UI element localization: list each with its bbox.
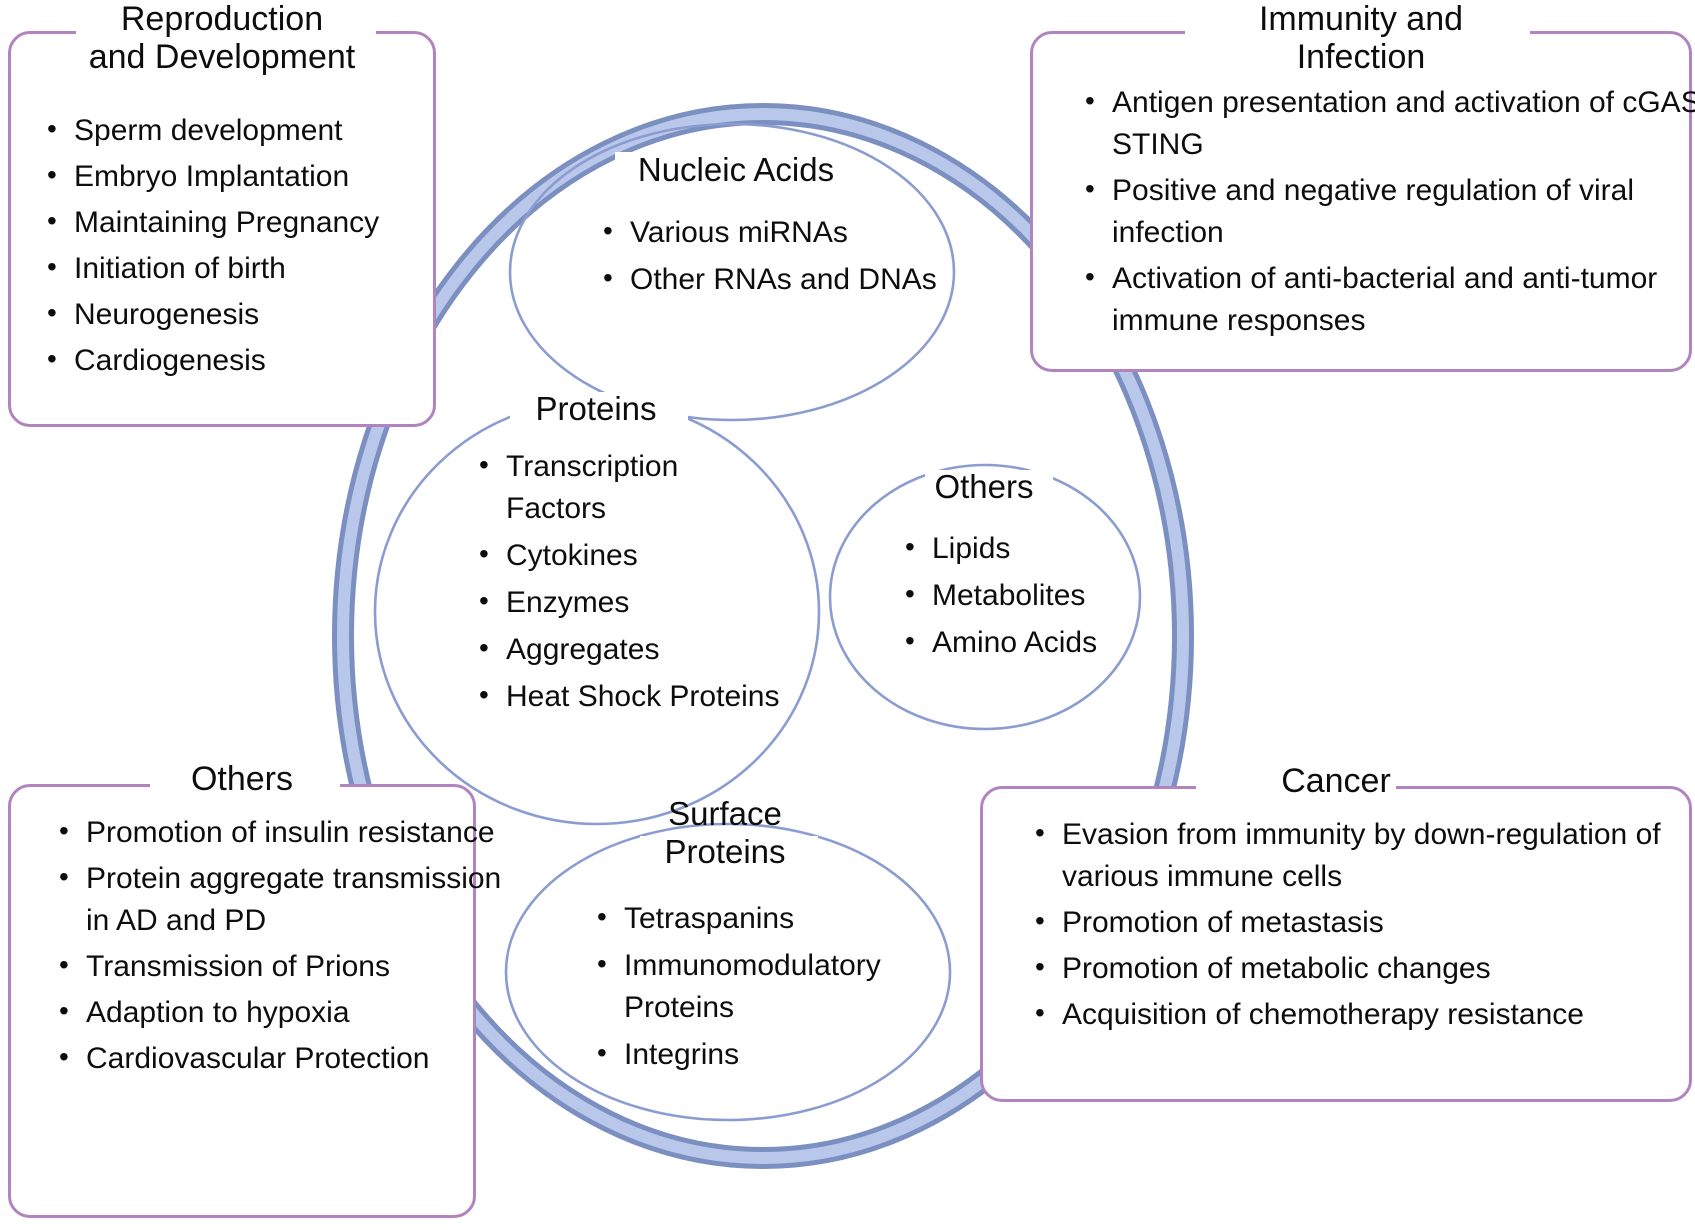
list-item: Activation of anti-bacterial and anti-tu… bbox=[1112, 258, 1695, 342]
cargo-list-others: Lipids Metabolites Amino Acids bbox=[898, 528, 1182, 669]
list-item: Various miRNAs bbox=[630, 212, 940, 254]
list-item: Integrins bbox=[624, 1034, 994, 1076]
cargo-title-proteins: Proteins bbox=[376, 390, 816, 428]
list-item: Positive and negative regulation of vira… bbox=[1112, 170, 1695, 254]
cargo-list-proteins: Transcription Factors Cytokines Enzymes … bbox=[472, 446, 786, 723]
panel-list-reproduction-and-development: Sperm development Embryo Implantation Ma… bbox=[38, 110, 464, 386]
list-item: Immunomodulatory Proteins bbox=[624, 945, 994, 1029]
list-item: Tetraspanins bbox=[624, 898, 994, 940]
list-item: Antigen presentation and activation of c… bbox=[1112, 82, 1695, 166]
list-item: Lipids bbox=[932, 528, 1182, 570]
list-item: Evasion from immunity by down-regulation… bbox=[1062, 814, 1695, 898]
panel-title-immunity-and-infection: Immunity and Infection bbox=[1030, 0, 1692, 76]
list-item: Promotion of metabolic changes bbox=[1062, 948, 1695, 990]
list-item: Initiation of birth bbox=[74, 248, 464, 290]
list-item: Enzymes bbox=[506, 582, 786, 624]
list-item: Protein aggregate transmission in AD and… bbox=[86, 858, 514, 942]
list-item: Adaption to hypoxia bbox=[86, 992, 514, 1034]
panel-title-reproduction-and-development: Reproduction and Development bbox=[8, 0, 436, 76]
panel-list-immunity-and-infection: Antigen presentation and activation of c… bbox=[1076, 82, 1695, 346]
list-item: Heat Shock Proteins bbox=[506, 676, 786, 718]
cargo-title-nucleic-acids: Nucleic Acids bbox=[516, 151, 956, 189]
list-item: Metabolites bbox=[932, 575, 1182, 617]
cargo-list-nucleic-acids: Various miRNAs Other RNAs and DNAs bbox=[596, 212, 940, 306]
list-item: Promotion of metastasis bbox=[1062, 902, 1695, 944]
cargo-list-surface-proteins: Tetraspanins Immunomodulatory Proteins I… bbox=[590, 898, 994, 1081]
cargo-title-surface-proteins: Surface Proteins bbox=[565, 795, 885, 870]
list-item: Maintaining Pregnancy bbox=[74, 202, 464, 244]
cargo-title-others: Others bbox=[828, 468, 1140, 506]
list-item: Other RNAs and DNAs bbox=[630, 259, 940, 301]
panel-list-others-outer: Promotion of insulin resistance Protein … bbox=[50, 812, 514, 1084]
list-item: Transcription Factors bbox=[506, 446, 786, 530]
list-item: Amino Acids bbox=[932, 622, 1182, 664]
list-item: Aggregates bbox=[506, 629, 786, 671]
list-item: Cardiovascular Protection bbox=[86, 1038, 514, 1080]
panel-title-cancer: Cancer bbox=[980, 762, 1692, 800]
list-item: Cytokines bbox=[506, 535, 786, 577]
list-item: Sperm development bbox=[74, 110, 464, 152]
list-item: Neurogenesis bbox=[74, 294, 464, 336]
list-item: Acquisition of chemotherapy resistance bbox=[1062, 994, 1695, 1036]
panel-list-cancer: Evasion from immunity by down-regulation… bbox=[1026, 814, 1695, 1040]
list-item: Promotion of insulin resistance bbox=[86, 812, 514, 854]
list-item: Embryo Implantation bbox=[74, 156, 464, 198]
list-item: Cardiogenesis bbox=[74, 340, 464, 382]
panel-title-others-outer: Others bbox=[8, 760, 476, 798]
list-item: Transmission of Prions bbox=[86, 946, 514, 988]
figure-canvas: Nucleic Acids Various miRNAs Other RNAs … bbox=[0, 0, 1695, 1230]
